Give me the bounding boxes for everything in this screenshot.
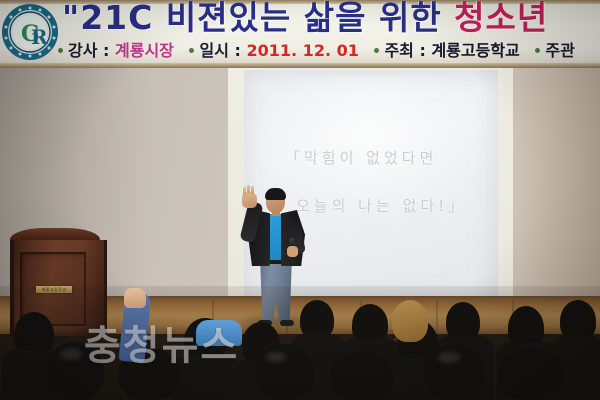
info-label-0: 강사 — [68, 41, 97, 60]
school-emblem-icon: G R — [2, 4, 58, 60]
speaker-hair — [265, 188, 286, 200]
audience-head — [498, 348, 564, 400]
banner-bottom-edge — [0, 63, 600, 68]
bullet-icon — [58, 48, 63, 53]
audience-body — [172, 356, 240, 400]
audience-blue-hood — [196, 320, 242, 346]
banner-headline-highlight: 청소년 — [454, 0, 548, 37]
speaker-microphone-hand — [287, 246, 298, 257]
banner-info-item-1: 일시 : 2011. 12. 01 — [187, 41, 364, 60]
student-raised-hand — [124, 288, 146, 308]
audience-head — [330, 352, 394, 400]
info-label-1: 일시 — [199, 41, 228, 60]
banner-info-item-3: 주관 — [533, 41, 574, 60]
bullet-icon — [374, 48, 379, 53]
banner-headline: "21C 비젼있는 삶을 위한 청소년 — [62, 0, 600, 40]
info-sep-1: : — [235, 41, 241, 60]
info-sep-0: : — [103, 41, 109, 60]
event-banner: G R "21C 비젼있는 삶을 위한 청소년 강사 : 계룡시장 일시 : 2… — [0, 0, 600, 68]
info-value-0: 계룡시장 — [115, 41, 174, 60]
info-value-2: 계룡고등학교 — [431, 41, 519, 60]
banner-info-item-0: 강사 : 계룡시장 — [56, 41, 179, 60]
svg-text:R: R — [31, 25, 48, 49]
info-sep-2: : — [419, 41, 425, 60]
banner-headline-main: "21C 비젼있는 삶을 위한 — [62, 0, 454, 37]
banner-info-line: 강사 : 계룡시장 일시 : 2011. 12. 01 주최 : 계룡고등학교 … — [56, 38, 600, 64]
speaker-raised-hand — [242, 192, 257, 208]
bullet-icon — [189, 48, 194, 53]
banner-info-item-2: 주최 : 계룡고등학교 — [372, 41, 525, 60]
info-value-1: 2011. 12. 01 — [247, 41, 359, 60]
audience-head-blonde — [392, 300, 428, 342]
photograph: 「막힘이 없었다면 오늘의 나는 없다!」 계룡고등학교 — [0, 0, 600, 400]
bullet-icon — [535, 48, 540, 53]
audience — [0, 286, 600, 400]
slide-text-line-1: 「막힘이 없었다면 — [285, 147, 437, 168]
info-label-2: 주최 — [384, 41, 413, 60]
slide-text-line-2: 오늘의 나는 없다!」 — [296, 195, 467, 216]
info-label-3: 주관 — [545, 41, 574, 60]
audience-head — [256, 344, 314, 400]
